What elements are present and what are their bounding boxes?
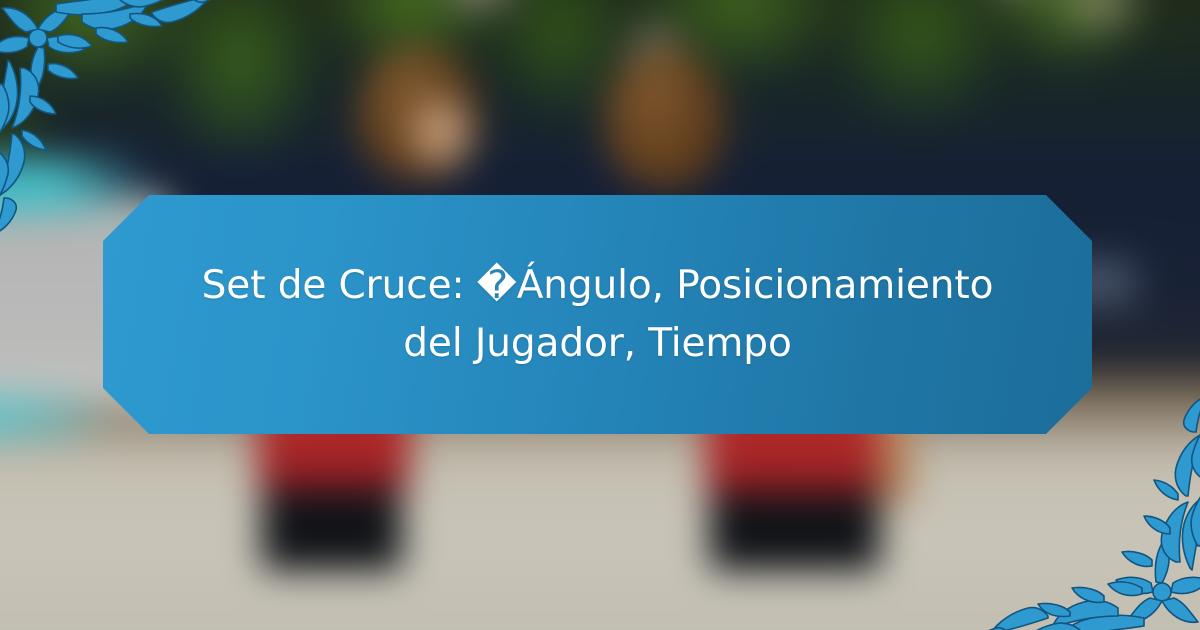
title-banner: Set de Cruce: �Ángulo, Posicionamiento d… <box>103 195 1092 434</box>
share-card: Set de Cruce: �Ángulo, Posicionamiento d… <box>0 0 1200 630</box>
banner-title-text: Set de Cruce: �Ángulo, Posicionamiento d… <box>138 257 1058 373</box>
